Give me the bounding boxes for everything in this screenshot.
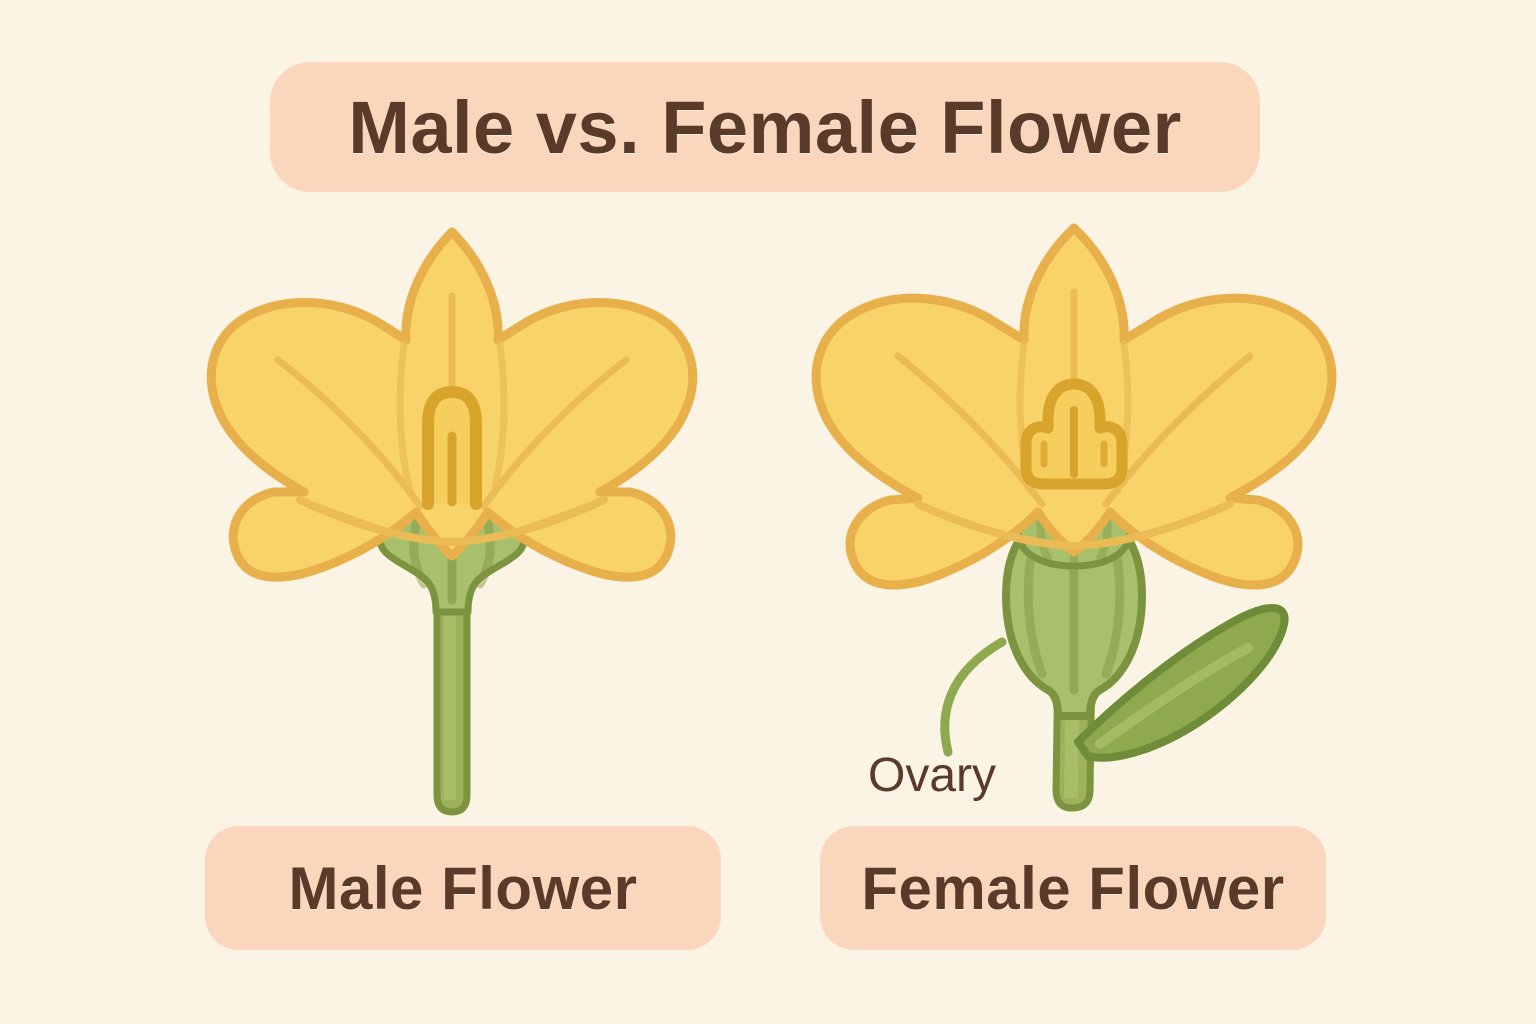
female-leaf (1078, 608, 1285, 758)
female-stigma (1026, 384, 1122, 484)
female-stem (1056, 660, 1092, 808)
male-flower-label-pill: Male Flower (205, 826, 721, 950)
illustration-canvas: Male vs. Female Flower Male Flower Femal… (0, 0, 1536, 1024)
female-petals (816, 228, 1332, 585)
female-ovary (1006, 510, 1142, 716)
ovary-annotation-label: Ovary (868, 748, 996, 803)
male-flower-label: Male Flower (289, 854, 638, 923)
male-stem (437, 560, 467, 812)
female-flower-label: Female Flower (861, 854, 1284, 923)
ovary-leader-line (945, 642, 1002, 752)
female-flower-label-pill: Female Flower (820, 826, 1326, 950)
male-anther (428, 392, 476, 504)
title-pill: Male vs. Female Flower (270, 62, 1260, 192)
male-petals (211, 232, 692, 577)
female-receptacle (1018, 494, 1130, 566)
page-title: Male vs. Female Flower (348, 85, 1182, 170)
male-calyx (380, 506, 524, 612)
